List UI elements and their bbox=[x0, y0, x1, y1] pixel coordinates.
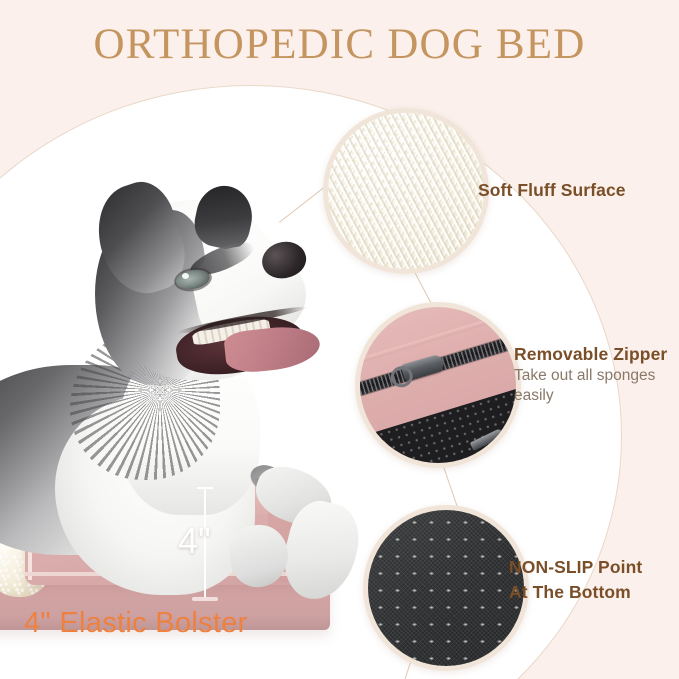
callout-label-soft-fluff-surface: Soft Fluff Surface bbox=[478, 180, 626, 202]
fluff-texture bbox=[328, 113, 484, 269]
callout-swatch-removable-zipper bbox=[355, 302, 521, 468]
callout-label-removable-zipper: Removable Zipper Take out all sponges ea… bbox=[514, 344, 674, 407]
callout-swatch-non-slip-point bbox=[363, 505, 529, 671]
callout-3-heading-line1: NON-SLIP Point bbox=[509, 555, 642, 580]
zipper-texture bbox=[360, 307, 516, 463]
callout-3-heading-line2: At The Bottom bbox=[509, 580, 642, 605]
callout-swatch-soft-fluff-surface bbox=[323, 108, 489, 274]
page-title: ORTHOPEDIC DOG BED bbox=[0, 20, 679, 69]
measure-cap-bottom bbox=[192, 597, 218, 601]
bolster-caption: 4" Elastic Bolster bbox=[24, 607, 248, 640]
non-slip-dot-texture bbox=[368, 510, 524, 666]
infographic-canvas: ORTHOPEDIC DOG BED bbox=[0, 0, 679, 679]
dog-eye-highlight bbox=[182, 273, 189, 279]
zipper-pull-icon bbox=[400, 354, 445, 382]
callout-2-subtext: Take out all sponges easily bbox=[514, 366, 674, 407]
measure-label: 4" bbox=[178, 520, 211, 562]
callout-label-non-slip-point: NON-SLIP Point At The Bottom bbox=[509, 555, 642, 606]
callout-2-heading: Removable Zipper bbox=[514, 344, 674, 366]
callout-1-heading: Soft Fluff Surface bbox=[478, 180, 626, 202]
non-slip-base-edge bbox=[355, 380, 521, 468]
dog-paw-lower bbox=[227, 522, 291, 590]
